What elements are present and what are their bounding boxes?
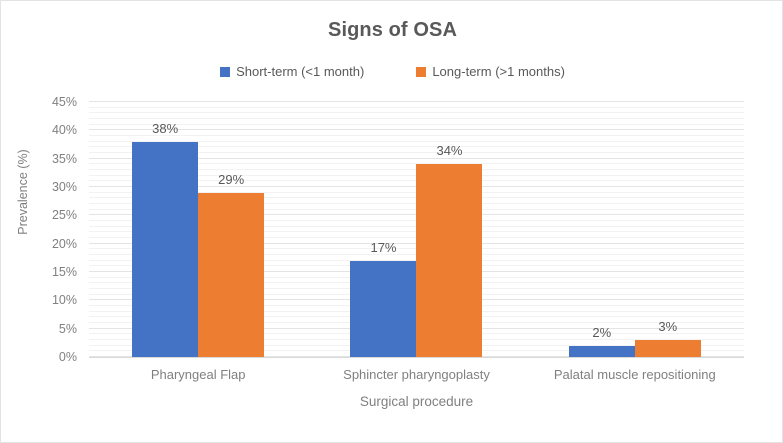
y-tick-label: 0% bbox=[59, 350, 77, 364]
bar-short-term[interactable]: 2% bbox=[569, 346, 635, 357]
y-tick-label: 5% bbox=[59, 322, 77, 336]
y-tick-label: 40% bbox=[52, 123, 77, 137]
bar-value-label: 17% bbox=[370, 240, 396, 255]
y-tick-label: 30% bbox=[52, 180, 77, 194]
chart-figure: Signs of OSA Short-term (<1 month) Long-… bbox=[0, 0, 783, 443]
x-tick-label: Sphincter pharyngoplasty bbox=[343, 367, 490, 382]
bar-group: 2%3% bbox=[526, 102, 744, 357]
bar-group: 38%29% bbox=[89, 102, 307, 357]
chart-legend: Short-term (<1 month) Long-term (>1 mont… bbox=[1, 64, 783, 79]
legend-label-short-term: Short-term (<1 month) bbox=[236, 64, 364, 79]
legend-swatch-long-term bbox=[416, 67, 426, 77]
bar-long-term[interactable]: 29% bbox=[198, 193, 264, 357]
legend-swatch-short-term bbox=[220, 67, 230, 77]
bar-value-label: 3% bbox=[658, 319, 677, 334]
y-tick-label: 15% bbox=[52, 265, 77, 279]
bar-short-term[interactable]: 17% bbox=[350, 261, 416, 357]
x-tick-label: Pharyngeal Flap bbox=[151, 367, 246, 382]
bar-value-label: 34% bbox=[436, 143, 462, 158]
bar-long-term[interactable]: 34% bbox=[416, 164, 482, 357]
bars-layer: 38%29%17%34%2%3% bbox=[89, 102, 744, 357]
bar-long-term[interactable]: 3% bbox=[635, 340, 701, 357]
x-axis-tick-labels: Pharyngeal FlapSphincter pharyngoplastyP… bbox=[89, 367, 744, 389]
plot-area: 38%29%17%34%2%3% bbox=[89, 102, 744, 357]
chart-title: Signs of OSA bbox=[1, 19, 783, 42]
y-tick-label: 10% bbox=[52, 293, 77, 307]
legend-item-long-term[interactable]: Long-term (>1 months) bbox=[416, 64, 565, 79]
bar-value-label: 2% bbox=[592, 325, 611, 340]
x-axis-line bbox=[89, 357, 744, 358]
bar-short-term[interactable]: 38% bbox=[132, 142, 198, 357]
y-tick-label: 35% bbox=[52, 152, 77, 166]
y-tick-label: 20% bbox=[52, 237, 77, 251]
bar-value-label: 29% bbox=[218, 172, 244, 187]
legend-item-short-term[interactable]: Short-term (<1 month) bbox=[220, 64, 364, 79]
x-axis-title: Surgical procedure bbox=[89, 394, 744, 409]
bar-group: 17%34% bbox=[307, 102, 525, 357]
y-tick-label: 45% bbox=[52, 95, 77, 109]
y-tick-label: 25% bbox=[52, 208, 77, 222]
x-tick-label: Palatal muscle repositioning bbox=[554, 367, 716, 382]
bar-value-label: 38% bbox=[152, 121, 178, 136]
y-axis-tick-labels: 0%5%10%15%20%25%30%35%40%45% bbox=[1, 102, 83, 357]
legend-label-long-term: Long-term (>1 months) bbox=[432, 64, 565, 79]
